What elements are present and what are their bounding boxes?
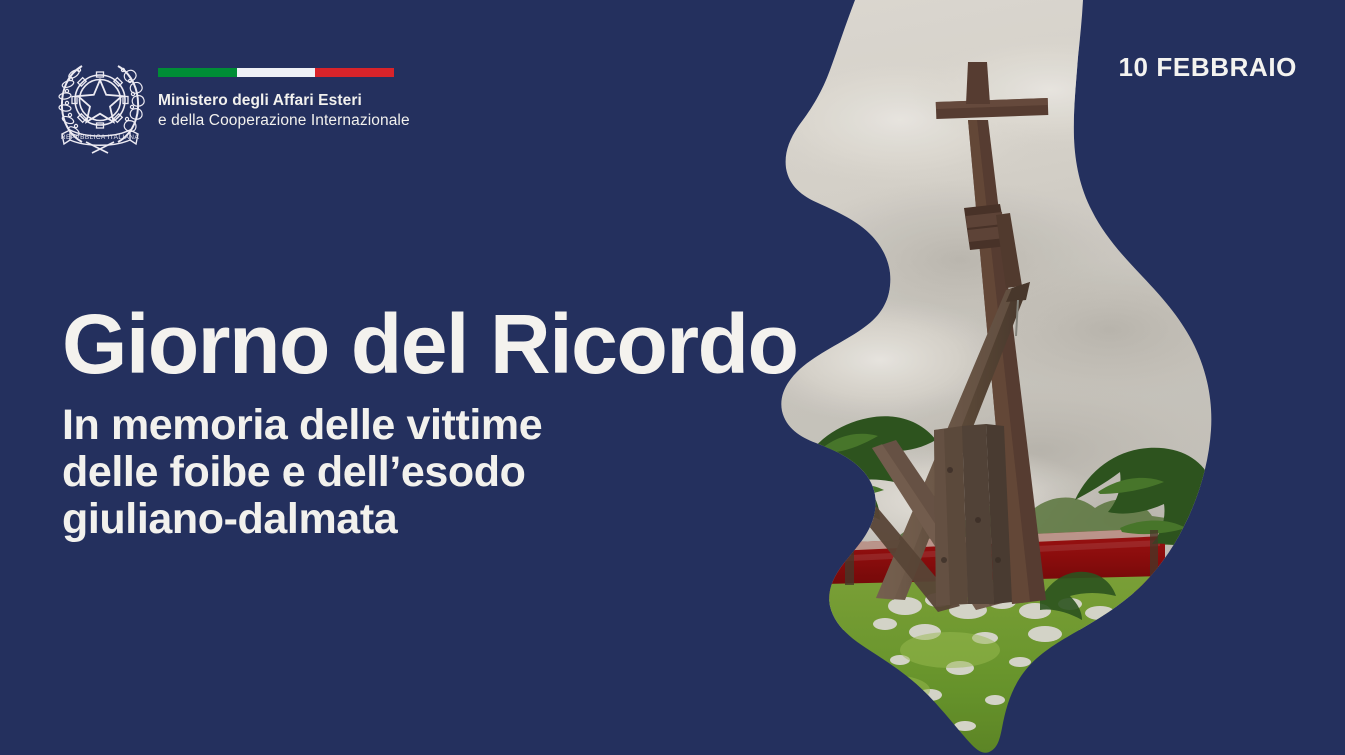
ministry-text-block: Ministero degli Affari Esteri e della Co… bbox=[158, 50, 410, 130]
italian-flag-bar bbox=[158, 68, 394, 77]
photo-clipped-group bbox=[750, 0, 1260, 755]
flag-band-green bbox=[158, 68, 237, 77]
date-label: 10 FEBBRAIO bbox=[1118, 52, 1297, 83]
subtitle-line-1: In memoria delle vittime bbox=[62, 402, 762, 449]
pine-tree-right bbox=[1075, 448, 1210, 590]
red-monument bbox=[790, 528, 1165, 600]
page-title: Giorno del Ricordo bbox=[62, 300, 762, 388]
page-subtitle: In memoria delle vittime delle foibe e d… bbox=[62, 402, 762, 543]
ground bbox=[780, 575, 1210, 755]
pine-tree-small bbox=[1040, 572, 1116, 620]
ministry-name-line-1: Ministero degli Affari Esteri bbox=[158, 91, 410, 111]
poster-canvas: REPVBBLICA ITALIANA Ministero degli Affa… bbox=[0, 0, 1345, 755]
sky bbox=[760, 0, 1230, 630]
distant-treeline bbox=[895, 497, 1180, 552]
ministry-name-line-2: e della Cooperazione Internazionale bbox=[158, 111, 410, 131]
stones bbox=[873, 593, 1127, 731]
pine-tree-left bbox=[780, 416, 936, 585]
flag-band-white bbox=[237, 68, 316, 77]
support-beams bbox=[848, 282, 1030, 612]
emblem-ribbon-text: REPVBBLICA ITALIANA bbox=[61, 134, 140, 141]
ministry-logo-lockup: REPVBBLICA ITALIANA Ministero degli Affa… bbox=[52, 50, 410, 154]
subtitle-line-2: delle foibe e dell’esodo bbox=[62, 449, 762, 496]
emblem-of-italy-icon: REPVBBLICA ITALIANA bbox=[52, 50, 148, 154]
flag-band-red bbox=[315, 68, 394, 77]
headline-block: Giorno del Ricordo In memoria delle vitt… bbox=[62, 300, 762, 543]
memorial-cross bbox=[936, 62, 1049, 604]
plank-cluster bbox=[934, 424, 1012, 606]
subtitle-line-3: giuliano-dalmata bbox=[62, 496, 762, 543]
